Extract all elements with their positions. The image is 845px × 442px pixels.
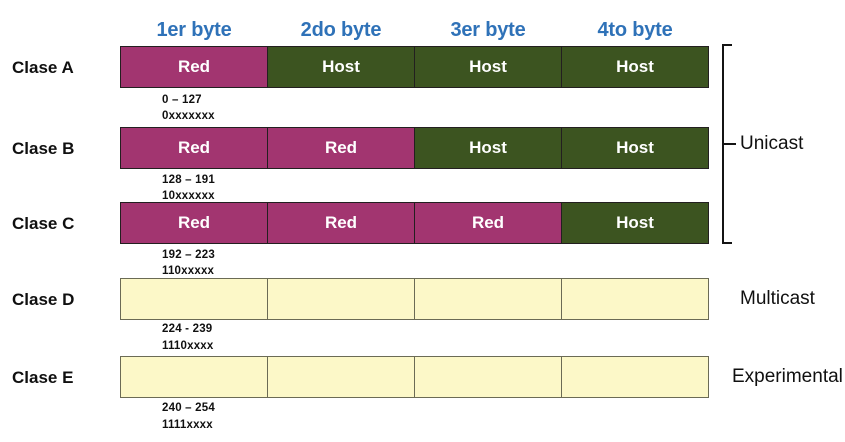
class-a-byte-3-label: Host <box>469 57 507 77</box>
class-a-byte-1: Red <box>120 46 268 88</box>
class-c-byte-3: Red <box>414 202 562 244</box>
class-row-a: Red Host Host Host <box>120 46 709 88</box>
class-a-byte-1-label: Red <box>178 57 210 77</box>
class-c-binary: 110xxxxx <box>162 265 214 277</box>
class-c-byte-1: Red <box>120 202 268 244</box>
bracket-bottom-cap <box>722 242 732 244</box>
class-c-range: 192 – 223 <box>162 249 215 261</box>
class-b-binary-text: 10xxxxxx <box>162 190 215 202</box>
class-d-byte-4 <box>561 278 709 320</box>
class-e-byte-3 <box>414 356 562 398</box>
class-d-range: 224 - 239 <box>162 323 212 335</box>
class-e-byte-1 <box>120 356 268 398</box>
class-b-byte-2: Red <box>267 127 415 169</box>
class-a-byte-3: Host <box>414 46 562 88</box>
class-label-c: Clase C <box>12 214 116 234</box>
class-c-byte-2: Red <box>267 202 415 244</box>
class-a-byte-2: Host <box>267 46 415 88</box>
ip-address-classes-diagram: 1er byte 2do byte 3er byte 4to byte Clas… <box>0 0 845 442</box>
class-c-byte-3-label: Red <box>472 213 504 233</box>
class-d-byte-1 <box>120 278 268 320</box>
class-a-byte-2-label: Host <box>322 57 360 77</box>
class-label-e: Clase E <box>12 368 116 388</box>
class-label-a-text: Clase A <box>12 58 74 77</box>
class-a-byte-4-label: Host <box>616 57 654 77</box>
bracket-mid-tick <box>724 143 736 145</box>
group-label-multicast-text: Multicast <box>740 288 815 309</box>
class-label-b-text: Clase B <box>12 139 74 158</box>
class-row-b: Red Red Host Host <box>120 127 709 169</box>
class-a-range-text: 0 – 127 <box>162 94 202 106</box>
class-b-byte-3-label: Host <box>469 138 507 158</box>
byte-header-2: 2do byte <box>267 17 415 43</box>
class-d-byte-3 <box>414 278 562 320</box>
class-d-range-text: 224 - 239 <box>162 323 212 335</box>
group-label-experimental: Experimental <box>732 366 843 388</box>
byte-header-2-label: 2do byte <box>301 19 382 41</box>
class-a-binary-text: 0xxxxxxx <box>162 110 215 122</box>
byte-header-4: 4to byte <box>561 17 709 43</box>
class-a-byte-4: Host <box>561 46 709 88</box>
class-e-byte-4 <box>561 356 709 398</box>
class-label-c-text: Clase C <box>12 214 74 233</box>
class-e-range-text: 240 – 254 <box>162 402 215 414</box>
class-c-byte-2-label: Red <box>325 213 357 233</box>
class-a-binary: 0xxxxxxx <box>162 110 215 122</box>
class-row-e <box>120 356 709 398</box>
class-label-d-text: Clase D <box>12 290 74 309</box>
class-a-range: 0 – 127 <box>162 94 202 106</box>
class-c-byte-1-label: Red <box>178 213 210 233</box>
class-e-range: 240 – 254 <box>162 402 215 414</box>
group-label-unicast: Unicast <box>740 133 803 155</box>
class-b-byte-2-label: Red <box>325 138 357 158</box>
class-b-byte-4: Host <box>561 127 709 169</box>
class-d-binary-text: 1110xxxx <box>162 340 214 352</box>
class-b-byte-1: Red <box>120 127 268 169</box>
group-label-unicast-text: Unicast <box>740 133 803 154</box>
unicast-bracket <box>714 44 740 244</box>
group-label-multicast: Multicast <box>740 288 815 310</box>
class-row-c: Red Red Red Host <box>120 202 709 244</box>
class-c-binary-text: 110xxxxx <box>162 265 214 277</box>
byte-header-3: 3er byte <box>414 17 562 43</box>
class-c-range-text: 192 – 223 <box>162 249 215 261</box>
class-c-byte-4-label: Host <box>616 213 654 233</box>
class-b-range: 128 – 191 <box>162 174 215 186</box>
class-b-byte-3: Host <box>414 127 562 169</box>
class-label-a: Clase A <box>12 58 116 78</box>
class-d-binary: 1110xxxx <box>162 340 214 352</box>
class-d-byte-2 <box>267 278 415 320</box>
class-label-d: Clase D <box>12 290 116 310</box>
class-e-binary: 1111xxxx <box>162 419 213 431</box>
class-label-b: Clase B <box>12 139 116 159</box>
class-e-byte-2 <box>267 356 415 398</box>
byte-header-4-label: 4to byte <box>597 19 672 41</box>
byte-header-3-label: 3er byte <box>450 19 525 41</box>
class-row-d <box>120 278 709 320</box>
class-b-byte-1-label: Red <box>178 138 210 158</box>
class-b-binary: 10xxxxxx <box>162 190 215 202</box>
class-b-byte-4-label: Host <box>616 138 654 158</box>
bracket-top-cap <box>722 44 732 46</box>
byte-header-1: 1er byte <box>120 17 268 43</box>
class-b-range-text: 128 – 191 <box>162 174 215 186</box>
class-c-byte-4: Host <box>561 202 709 244</box>
class-e-binary-text: 1111xxxx <box>162 419 213 431</box>
byte-header-1-label: 1er byte <box>156 19 231 41</box>
class-label-e-text: Clase E <box>12 368 73 387</box>
group-label-experimental-text: Experimental <box>732 366 843 387</box>
